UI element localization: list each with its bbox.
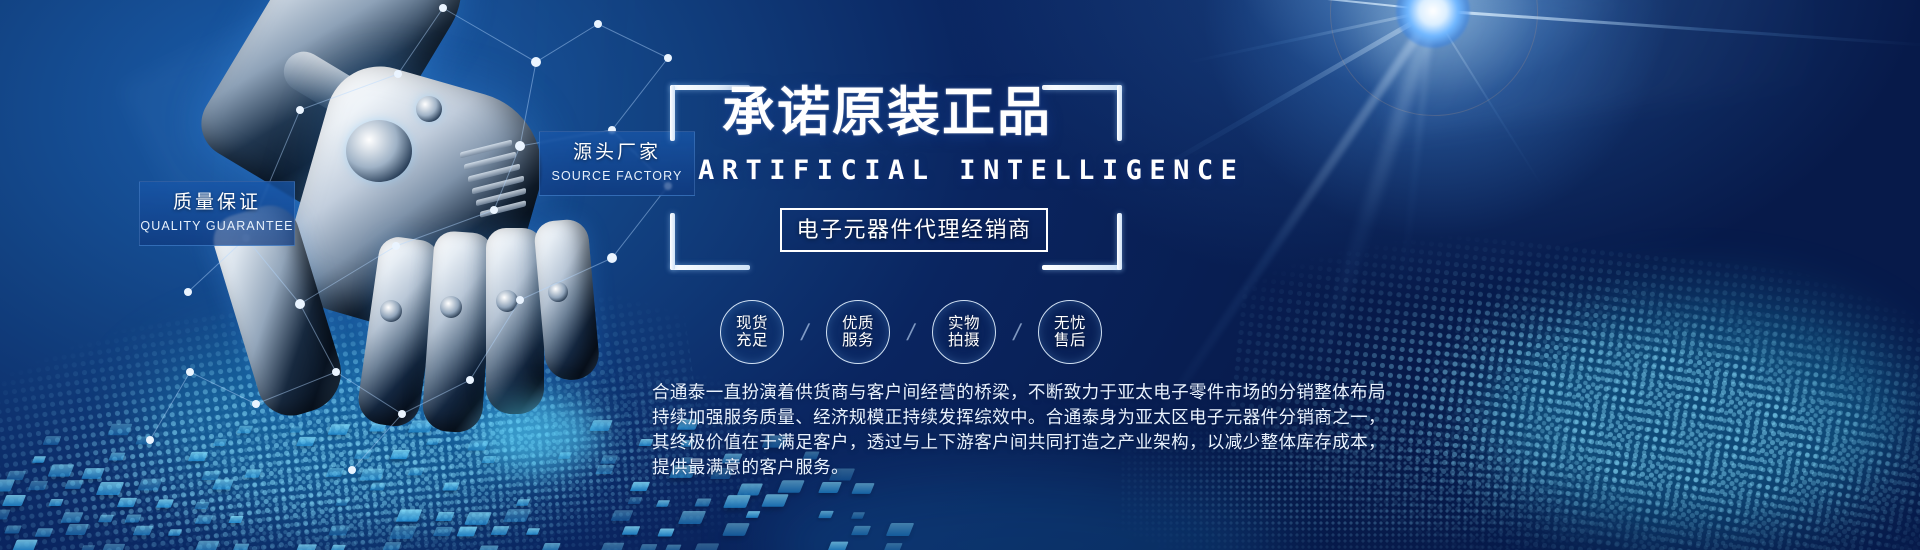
cube: [156, 499, 174, 507]
paragraph-line-1: 合通泰一直扮演着供货商与客户间经营的桥梁，不断致力于亚太电子零件市场的分销整体布…: [652, 380, 1312, 405]
cube: [692, 544, 719, 550]
cube: [138, 479, 164, 491]
cube: [194, 540, 219, 550]
promo-banner: 质量保证 QUALITY GUARANTEE 源头厂家 SOURCE FACTO…: [0, 0, 1920, 550]
feature-circle-stock: 现货 充足: [720, 300, 784, 364]
cube: [389, 526, 417, 539]
cube: [433, 527, 453, 536]
cube: [132, 526, 153, 535]
cube: [611, 510, 634, 520]
cube: [883, 543, 902, 550]
badge-quality-cn: 质量保证: [140, 193, 294, 212]
cube: [622, 527, 641, 536]
robot-knuckle: [416, 96, 442, 122]
cube: [96, 482, 124, 495]
robot-knuckle: [346, 120, 412, 182]
cube: [107, 424, 132, 436]
cube: [167, 529, 181, 536]
feature-line1: 实物: [948, 315, 980, 332]
cube: [477, 545, 499, 550]
bracket-corner-segment: [1042, 265, 1122, 270]
cube: [724, 495, 752, 508]
cube: [12, 540, 38, 550]
headline-subtitle-english: ARTIFICIAL INTELLIGENCE: [698, 157, 1244, 184]
cube: [328, 526, 350, 536]
cube: [80, 545, 94, 550]
cube: [542, 543, 561, 550]
feature-line2: 售后: [1054, 332, 1086, 349]
cube: [746, 511, 761, 518]
cube: [228, 516, 243, 523]
feature-circle-list: 现货 充足 / 优质 服务 / 实物 拍摄 / 无忧 售后: [720, 300, 1102, 364]
cube: [47, 465, 74, 477]
bracket-corner-segment: [670, 265, 750, 270]
robot-joint: [496, 290, 518, 312]
feature-separator: /: [781, 319, 829, 346]
cube: [516, 499, 530, 506]
feature-circle-service: 优质 服务: [826, 300, 890, 364]
headline-tagline-text: 电子元器件代理经销商: [796, 219, 1031, 241]
fingertip-glow: [480, 400, 600, 470]
cube: [330, 545, 346, 550]
feature-line1: 无忧: [1054, 315, 1086, 332]
cube: [664, 545, 681, 550]
cube: [490, 526, 509, 535]
cube: [295, 545, 317, 550]
bracket-corner-segment: [670, 85, 675, 141]
cube: [382, 542, 401, 550]
badge-quality-en: QUALITY GUARANTEE: [140, 220, 294, 233]
cube: [124, 515, 141, 523]
cube: [34, 528, 53, 537]
feature-circle-real-photo: 实物 拍摄: [932, 300, 996, 364]
feature-line1: 优质: [842, 315, 874, 332]
description-paragraph: 合通泰一直扮演着供货商与客户间经营的桥梁，不断致力于亚太电子零件市场的分销整体布…: [652, 380, 1312, 480]
cube: [60, 512, 83, 523]
paragraph-line-4: 提供最满意的客户服务。: [652, 455, 1312, 480]
feature-separator: /: [887, 319, 935, 346]
bracket-corner-segment: [670, 213, 675, 270]
cube: [194, 515, 213, 524]
cube: [851, 513, 865, 519]
robot-joint: [548, 282, 568, 302]
cube: [658, 529, 675, 537]
badge-quality-guarantee: 质量保证 QUALITY GUARANTEE: [139, 181, 295, 246]
feature-line2: 拍摄: [948, 332, 980, 349]
cube: [81, 468, 105, 479]
cube: [464, 512, 492, 525]
cube: [233, 543, 250, 550]
cube: [101, 544, 126, 550]
cube: [503, 509, 531, 522]
cube: [49, 499, 64, 506]
cube: [828, 542, 849, 550]
bracket-corner-segment: [1042, 85, 1122, 90]
cube: [395, 509, 422, 521]
cube: [722, 524, 750, 537]
cube: [638, 544, 657, 550]
headline-tagline-box: 电子元器件代理经销商: [780, 208, 1048, 252]
paragraph-line-3: 其终极价值在于满足客户，透过与上下游客户间共同打造之产业架构，以减少整体库存成本…: [652, 430, 1312, 455]
cube: [98, 514, 114, 521]
cube: [108, 453, 125, 461]
cube: [64, 480, 83, 489]
headline-block: 承诺原装正品 ARTIFICIAL INTELLIGENCE 电子元器件代理经销…: [652, 60, 1352, 490]
bracket-corner-segment: [1117, 213, 1122, 270]
cube: [335, 500, 349, 506]
cube: [656, 500, 670, 506]
headline-title: 承诺原装正品: [722, 86, 1052, 139]
robot-joint: [380, 300, 402, 322]
feature-line2: 服务: [842, 332, 874, 349]
cube: [435, 512, 454, 521]
robot-joint: [440, 296, 462, 318]
cube: [627, 497, 642, 504]
feature-circle-aftersales: 无忧 售后: [1038, 300, 1102, 364]
bracket-corner-segment: [1117, 85, 1122, 141]
cube: [599, 543, 624, 550]
cube: [135, 437, 152, 445]
cube: [526, 528, 540, 535]
cube: [457, 527, 478, 537]
paragraph-line-2: 持续加强服务质量、经济规模正持续发挥综效中。合通泰身为亚太区电子元器件分销商之一…: [652, 405, 1312, 430]
cube: [194, 502, 210, 509]
robot-finger: [421, 230, 495, 434]
cube: [65, 524, 89, 535]
cube: [678, 511, 706, 524]
feature-line2: 充足: [736, 332, 768, 349]
cube: [761, 494, 788, 507]
cube: [695, 499, 712, 507]
feature-separator: /: [993, 319, 1041, 346]
feature-line1: 现货: [736, 315, 768, 332]
cube: [117, 497, 137, 506]
